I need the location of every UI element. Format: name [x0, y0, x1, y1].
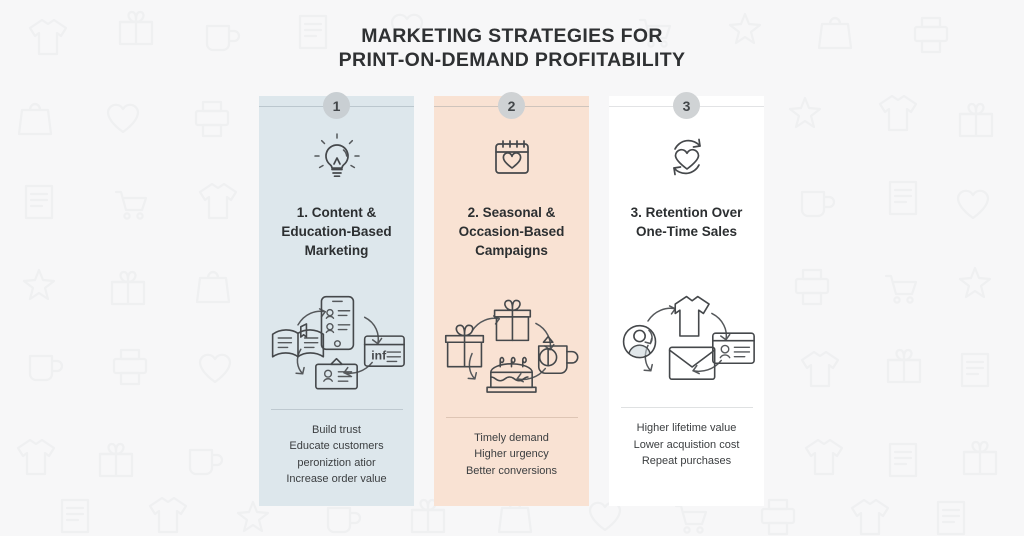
step-number-badge-3: 3: [673, 92, 700, 119]
step-number-badge-1: 1: [323, 92, 350, 119]
heart-refresh-icon: [660, 131, 714, 183]
page-title: MARKETING STRATEGIES FOR PRINT-ON-DEMAND…: [0, 24, 1024, 72]
benefit-item: Increase order value: [263, 471, 411, 488]
svg-text:inf: inf: [371, 348, 387, 362]
title-line-2: PRINT-ON-DEMAND PROFITABILITY: [0, 48, 1024, 72]
content-education-icon-cluster: inf: [267, 279, 406, 397]
benefit-item: Repeat purchases: [613, 453, 761, 470]
benefit-item: Higher lifetime value: [613, 420, 761, 437]
open-book-icon: [273, 323, 324, 356]
benefits-list-1: Build trust Educate customers peroniztio…: [263, 422, 411, 488]
lightbulb-icon: [310, 131, 364, 183]
gift-box-icon: [495, 300, 531, 340]
benefits-divider-2: [446, 417, 578, 418]
benefit-item: peroniztion atior: [263, 455, 411, 472]
benefits-list-2: Timely demand Higher urgency Better conv…: [438, 430, 586, 480]
benefit-item: Educate customers: [263, 438, 411, 455]
column-heading-3: 3. Retention Over One-Time Sales: [616, 203, 758, 241]
birthday-cake-icon: [487, 357, 536, 391]
column-heading-2: 2. Seasonal & Occasion-Based Campaigns: [441, 203, 583, 260]
benefit-item: Lower acquistion cost: [613, 437, 761, 454]
info-browser-window-icon: inf: [365, 336, 404, 366]
gift-box-icon: [446, 325, 484, 366]
seasonal-campaigns-icon-cluster: [442, 287, 581, 405]
smartphone-contacts-icon: [321, 296, 353, 349]
column-heading-1: 1. Content & Education-Based Marketing: [266, 203, 408, 260]
strategy-column-retention[interactable]: 3 3. Retention Over One-Time Sales: [609, 96, 764, 506]
benefit-item: Higher urgency: [438, 446, 586, 463]
benefit-item: Timely demand: [438, 430, 586, 447]
title-line-1: MARKETING STRATEGIES FOR: [361, 25, 663, 47]
benefits-divider-1: [271, 409, 403, 410]
benefit-item: Better conversions: [438, 463, 586, 480]
step-number-badge-2: 2: [498, 92, 525, 119]
benefits-divider-3: [621, 407, 753, 408]
tshirt-icon: [675, 297, 709, 336]
calendar-heart-icon: [485, 131, 539, 183]
benefits-list-3: Higher lifetime value Lower acquistion c…: [613, 420, 761, 470]
strategy-columns: 1 1. Content & Education-Based Marketing: [259, 96, 765, 506]
user-avatar-icon: [624, 326, 656, 358]
benefit-item: Build trust: [263, 422, 411, 439]
retention-icon-cluster: [617, 277, 756, 395]
id-card-icon: [713, 333, 754, 363]
strategy-column-content-education[interactable]: 1 1. Content & Education-Based Marketing: [259, 96, 414, 506]
strategy-column-seasonal-campaigns[interactable]: 2 2. Seasonal & Occasion-Based Campaigns: [434, 96, 589, 506]
ring-mug-icon: [539, 336, 578, 373]
envelope-icon: [670, 348, 715, 380]
